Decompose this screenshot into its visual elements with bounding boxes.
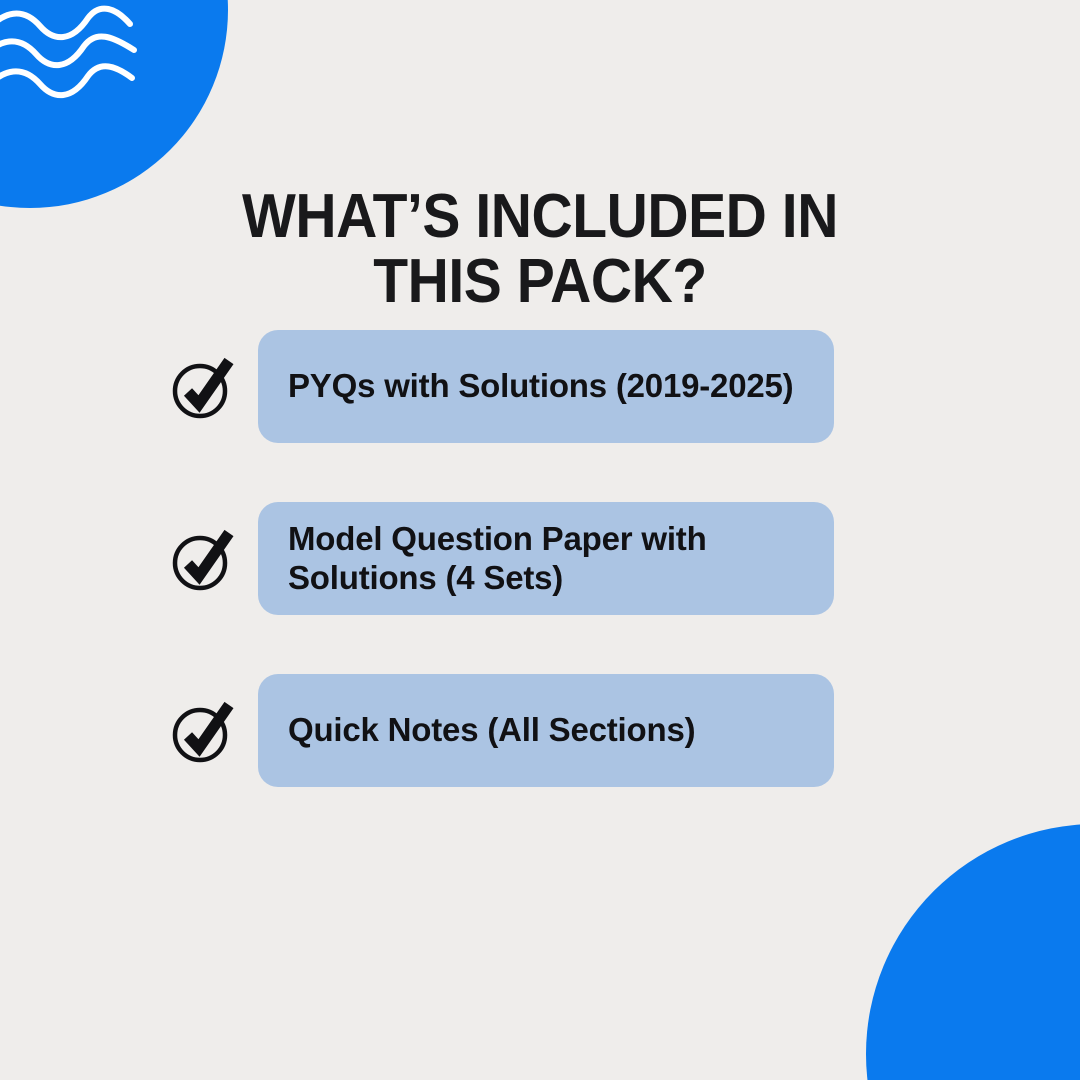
bottom-right-blue-circle-decoration <box>866 824 1080 1080</box>
pill-card[interactable]: PYQs with Solutions (2019-2025) <box>258 330 834 443</box>
list-item[interactable]: Model Question Paper with Solutions (4 S… <box>160 502 920 615</box>
list-item-label: PYQs with Solutions (2019-2025) <box>288 367 793 406</box>
pill-card[interactable]: Model Question Paper with Solutions (4 S… <box>258 502 834 615</box>
checklist: PYQs with Solutions (2019-2025) Model Qu… <box>160 330 920 787</box>
list-item-label: Quick Notes (All Sections) <box>288 711 695 750</box>
list-item[interactable]: Quick Notes (All Sections) <box>160 674 920 787</box>
wave-lines-icon <box>0 0 160 110</box>
check-circle-icon <box>166 351 238 423</box>
check-circle-icon <box>166 695 238 767</box>
pill-card[interactable]: Quick Notes (All Sections) <box>258 674 834 787</box>
poster-canvas: WHAT’S INCLUDED IN THIS PACK? PYQs with … <box>0 0 1080 1080</box>
page-title: WHAT’S INCLUDED IN THIS PACK? <box>172 184 908 315</box>
check-circle-icon <box>166 523 238 595</box>
list-item[interactable]: PYQs with Solutions (2019-2025) <box>160 330 920 443</box>
list-item-label: Model Question Paper with Solutions (4 S… <box>288 520 806 598</box>
